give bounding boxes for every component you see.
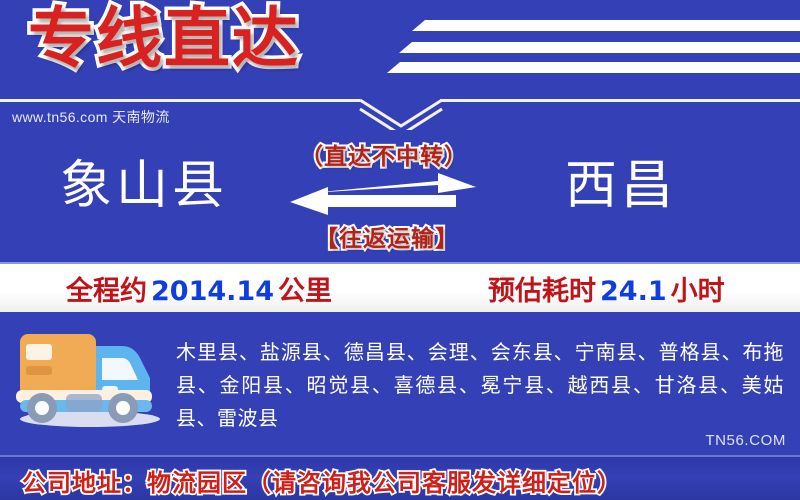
decorative-stripe-1 bbox=[425, 20, 800, 31]
bidirectional-arrow-icon bbox=[288, 171, 478, 216]
header-divider-left bbox=[0, 99, 360, 102]
route-row: 象山县 （直达不中转） 【往返运输】 西昌 bbox=[0, 131, 800, 258]
decorative-stripe-2 bbox=[412, 42, 800, 53]
origin-city: 象山县 bbox=[60, 151, 228, 221]
poster-header: 专线直达 www.tn56.com 天南物流 bbox=[0, 0, 800, 131]
poster-footer: 公司地址：物流园区（请咨询我公司客服发详细定位） bbox=[0, 455, 800, 500]
logistics-route-poster: 专线直达 www.tn56.com 天南物流 象山县 （直达不中转） 【往返运输… bbox=[0, 0, 800, 500]
distance-stat: 全程约2014.14公里 bbox=[66, 269, 332, 308]
stats-bar: 全程约2014.14公里 预估耗时24.1小时 bbox=[0, 262, 800, 314]
distance-unit: 公里 bbox=[278, 276, 332, 307]
stripe-tip bbox=[399, 42, 412, 53]
decorative-stripe-3 bbox=[400, 62, 800, 73]
distance-value: 2014.14 bbox=[147, 276, 278, 307]
duration-unit: 小时 bbox=[671, 276, 725, 307]
distance-label: 全程约 bbox=[66, 276, 147, 307]
duration-stat: 预估耗时24.1小时 bbox=[488, 269, 725, 308]
tagline-roundtrip: 【往返运输】 bbox=[315, 219, 459, 253]
duration-label: 预估耗时 bbox=[488, 276, 596, 307]
covered-cities-list: 木里县、盐源县、德昌县、会理、会东县、宁南县、普格县、布拖县、金阳县、昭觉县、喜… bbox=[176, 336, 784, 435]
stripe-tip bbox=[387, 62, 400, 73]
delivery-truck-icon bbox=[10, 324, 170, 429]
duration-value: 24.1 bbox=[596, 276, 671, 307]
chevron-down-icon bbox=[356, 96, 446, 130]
header-divider-right bbox=[440, 99, 800, 102]
stripe-tip bbox=[412, 20, 425, 31]
coverage-section: 木里县、盐源县、德昌县、会理、会东县、宁南县、普格县、布拖县、金阳县、昭觉县、喜… bbox=[0, 312, 800, 455]
poster-headline: 专线直达 bbox=[28, 0, 300, 81]
tagline-direct: （直达不中转） bbox=[300, 137, 468, 171]
destination-city: 西昌 bbox=[565, 151, 677, 221]
website-label: www.tn56.com 天南物流 bbox=[12, 107, 170, 127]
company-address-label: 公司地址：物流园区（请咨询我公司客服发详细定位） bbox=[22, 463, 622, 498]
watermark-label: TN56.COM bbox=[705, 432, 786, 449]
